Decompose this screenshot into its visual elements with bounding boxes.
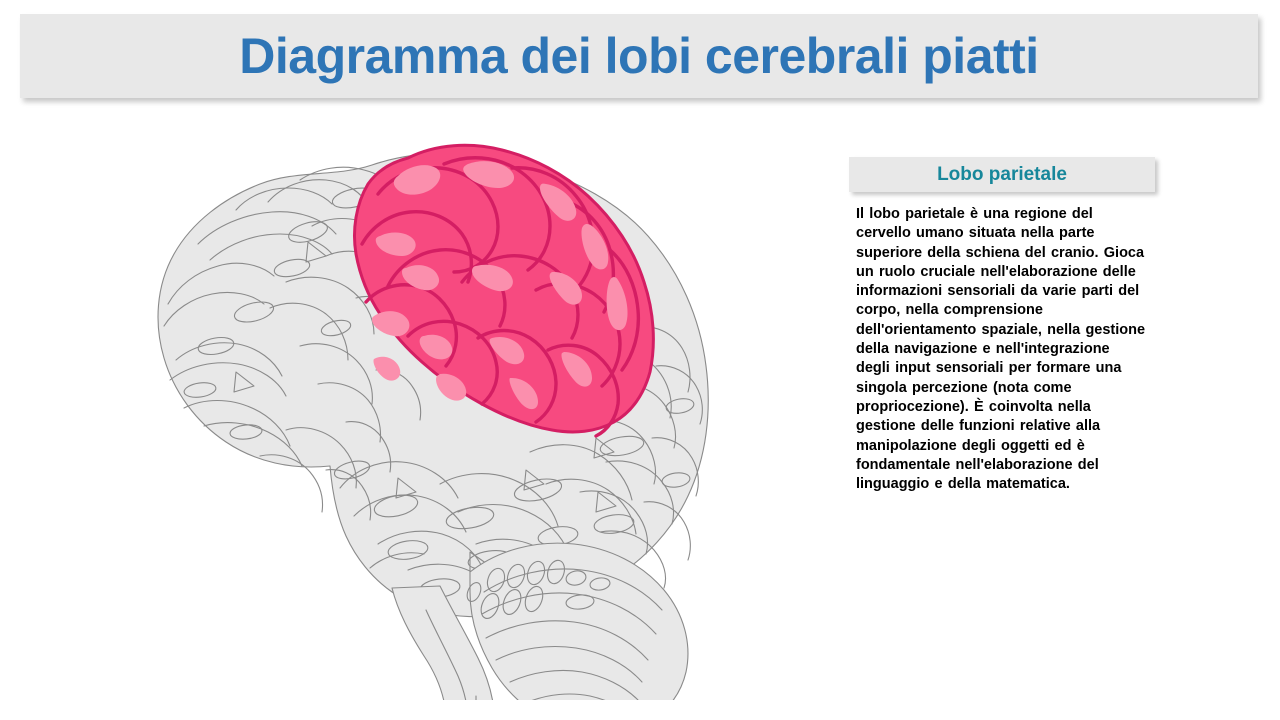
lobe-description-text: Il lobo parietale è una regione del cerv… bbox=[856, 205, 1148, 494]
lobe-header-box: Lobo parietale bbox=[849, 157, 1155, 192]
brain-diagram: .gy { fill:#E8E8E8; stroke:#8A8A8A; stro… bbox=[140, 140, 760, 700]
cerebellum bbox=[464, 543, 687, 700]
slide-title-bar: Diagramma dei lobi cerebrali piatti bbox=[20, 14, 1258, 98]
lobe-info-panel: Lobo parietale Il lobo parietale è una r… bbox=[849, 157, 1159, 509]
page-title: Diagramma dei lobi cerebrali piatti bbox=[239, 31, 1038, 81]
brain-svg: .gy { fill:#E8E8E8; stroke:#8A8A8A; stro… bbox=[140, 140, 760, 700]
lobe-name-label: Lobo parietale bbox=[937, 164, 1067, 186]
